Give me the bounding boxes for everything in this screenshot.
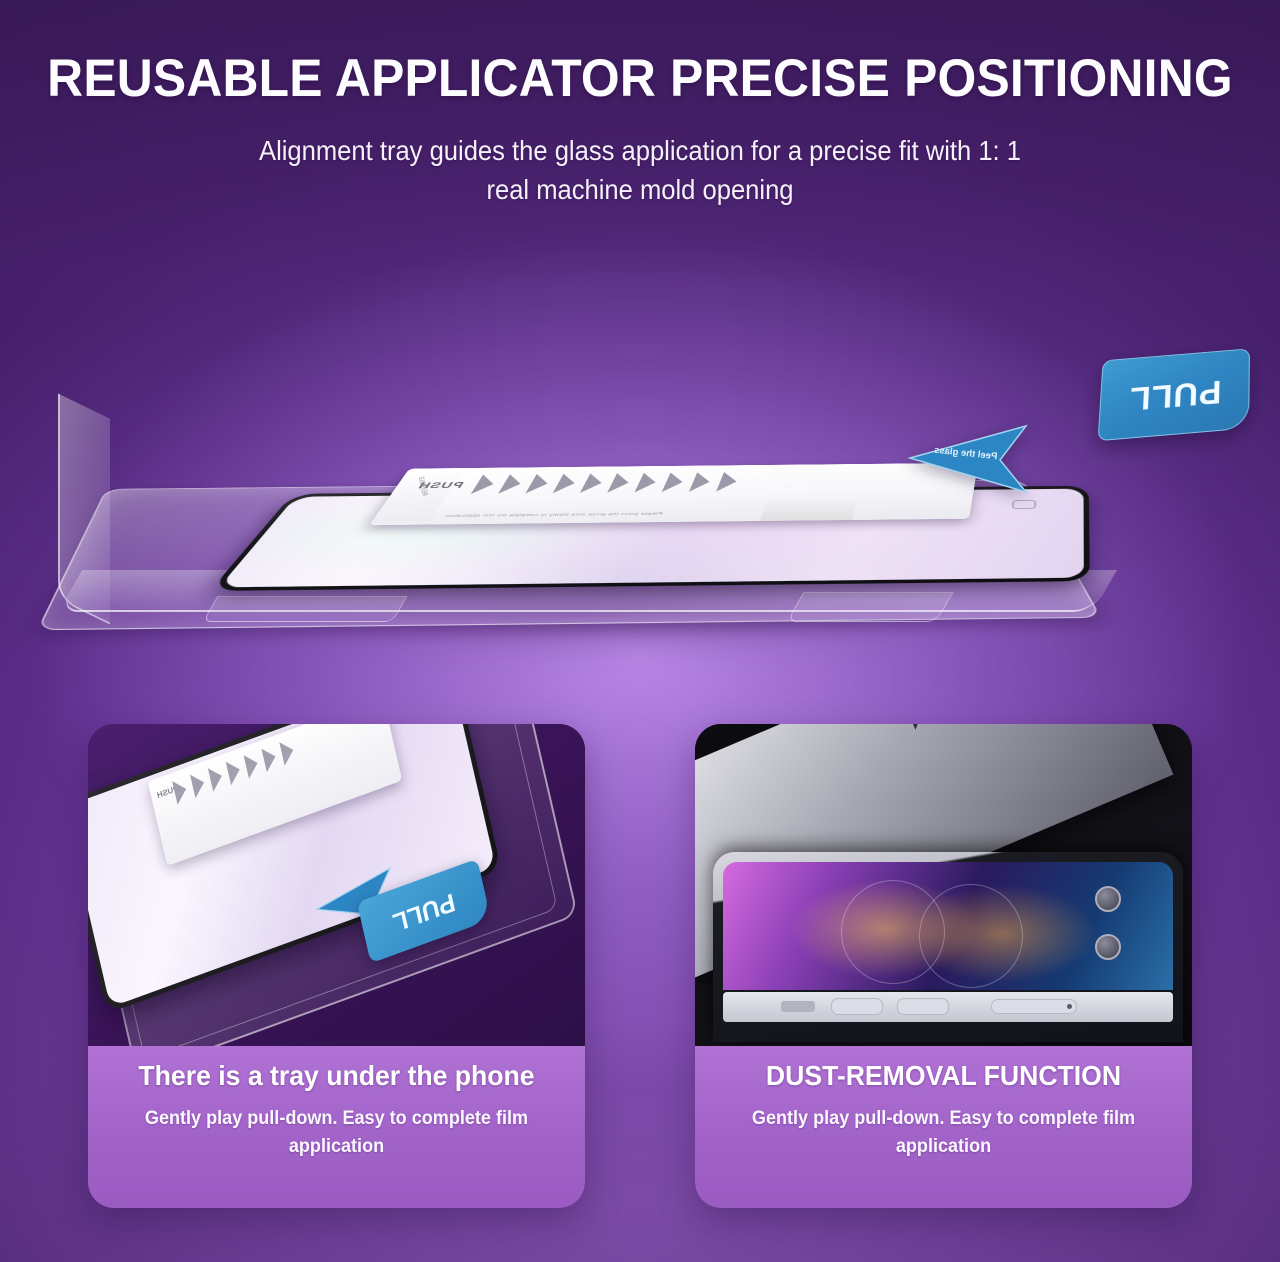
card-image-tray: PUSH PULL xyxy=(88,724,585,1046)
peel-arrow-sticker: Peel the glass xyxy=(908,424,1028,494)
chevron-right-icon xyxy=(498,474,526,494)
chevron-right-icon xyxy=(244,751,261,779)
page-subtitle: Alignment tray guides the glass applicat… xyxy=(45,131,1235,209)
camera-icon xyxy=(1012,500,1036,509)
subtitle-line-1: Alignment tray guides the glass applicat… xyxy=(45,131,1235,170)
sim-tray-icon xyxy=(991,999,1077,1014)
card-image-dust-removal: 15:05 xyxy=(695,724,1192,1046)
card-subtitle: Gently play pull-down. Easy to complete … xyxy=(707,1105,1179,1160)
port-icon xyxy=(831,998,883,1015)
chevron-right-icon xyxy=(190,771,207,799)
lockscreen-clock: 15:05 xyxy=(723,892,729,982)
chevron-right-icon xyxy=(208,764,225,792)
sim-pinhole-icon xyxy=(1067,1004,1072,1009)
chevron-right-icon xyxy=(580,473,607,493)
card-title: There is a tray under the phone xyxy=(100,1060,572,1092)
tray-notch-left xyxy=(202,596,407,622)
chevron-right-icon xyxy=(689,472,714,492)
chevron-right-icon xyxy=(172,777,189,805)
feature-card-tray: PUSH PULL There i xyxy=(88,724,585,1208)
applicator-card: REUSABLE PUSH Please press the arrow are… xyxy=(369,463,978,525)
chevron-arrow-group xyxy=(471,472,741,494)
chevron-right-icon xyxy=(261,745,278,773)
chevron-right-icon xyxy=(716,472,740,492)
card-title: DUST-REMOVAL FUNCTION xyxy=(707,1060,1179,1092)
pull-tab-label: PULL xyxy=(1128,372,1222,417)
applicator-fine-print: Please press the arrow area slowly to co… xyxy=(443,512,663,519)
phone-device: 15:05 xyxy=(713,852,1183,1042)
chevron-right-icon xyxy=(607,473,633,493)
chevron-right-icon xyxy=(634,473,660,493)
applicator-push-label: PUSH xyxy=(415,480,466,490)
header: REUSABLE APPLICATOR PRECISE POSITIONING … xyxy=(0,52,1280,209)
chevron-right-icon xyxy=(907,724,926,730)
port-icon xyxy=(897,998,949,1015)
card-caption: There is a tray under the phone Gently p… xyxy=(88,1046,585,1208)
chevron-right-icon xyxy=(226,758,243,786)
chevron-right-icon xyxy=(662,472,687,492)
card-caption: DUST-REMOVAL FUNCTION Gently play pull-d… xyxy=(695,1046,1192,1208)
pull-tab-label: PULL xyxy=(390,886,458,937)
feature-cards: PUSH PULL There i xyxy=(88,724,1192,1208)
camera-icon xyxy=(1095,934,1121,960)
page-title: REUSABLE APPLICATOR PRECISE POSITIONING xyxy=(38,52,1241,105)
camera-icon xyxy=(1095,886,1121,912)
pull-tab: PULL xyxy=(1098,348,1250,441)
chevron-arrow-group xyxy=(907,724,1004,730)
applicator-cutout xyxy=(759,498,857,523)
feature-card-dust-removal: 15:05 DUST-REMOVAL FUNCTION Gently play … xyxy=(695,724,1192,1208)
tray-notch-right xyxy=(786,592,953,622)
chevron-right-icon xyxy=(279,738,296,766)
dust-circle-icon xyxy=(919,884,1023,988)
phone-bottom-edge xyxy=(723,992,1173,1022)
phone-screen: 15:05 xyxy=(723,862,1173,990)
subtitle-line-2: real machine mold opening xyxy=(45,170,1235,209)
chevron-right-icon xyxy=(553,474,580,494)
chevron-right-icon xyxy=(525,474,553,494)
speaker-grille-icon xyxy=(781,1001,815,1012)
card-subtitle: Gently play pull-down. Easy to complete … xyxy=(100,1105,572,1160)
chevron-right-icon xyxy=(471,474,500,494)
hero-product-image: REUSABLE PUSH Please press the arrow are… xyxy=(0,300,1280,680)
